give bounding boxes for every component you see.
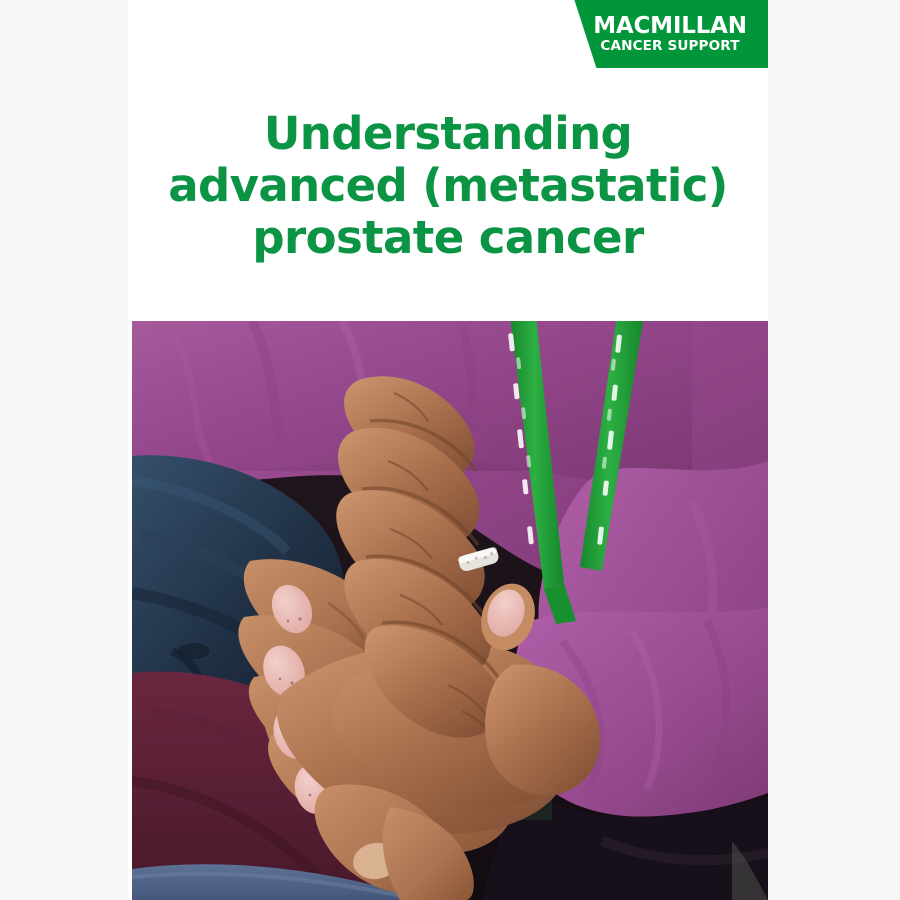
logo-secondary-text: CANCER SUPPORT xyxy=(600,40,739,54)
logo-primary-text: MACMILLAN xyxy=(593,15,747,38)
title-line-3: prostate cancer xyxy=(128,212,768,264)
page-title: Understanding advanced (metastatic) pros… xyxy=(128,108,768,264)
title-line-1: Understanding xyxy=(128,108,768,160)
cover-photo-illustration xyxy=(132,321,768,900)
macmillan-logo: MACMILLAN CANCER SUPPORT xyxy=(548,0,768,68)
booklet-cover: MACMILLAN CANCER SUPPORT Understanding a… xyxy=(128,0,768,900)
title-line-2: advanced (metastatic) xyxy=(128,160,768,212)
cover-photo: Close-up of two people's hands clasped t… xyxy=(132,321,768,900)
